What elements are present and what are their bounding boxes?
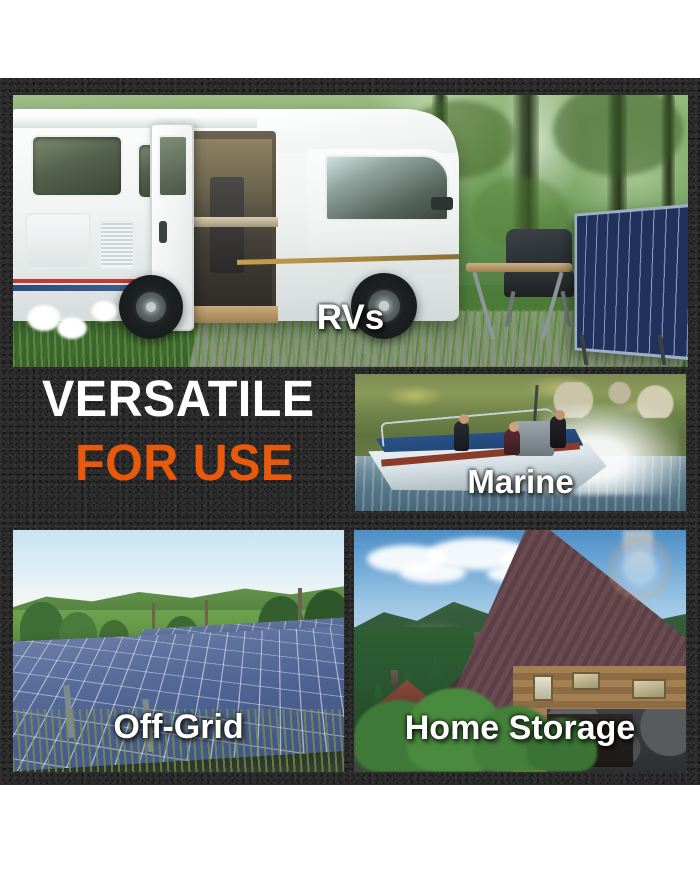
headline-block: VERSATILE FOR USE — [13, 374, 345, 508]
person-head — [509, 422, 519, 432]
window — [632, 679, 666, 699]
open-doorway — [182, 131, 276, 323]
headline-line-1: VERSATILE — [42, 374, 330, 424]
interior — [186, 139, 272, 307]
panel-home-storage[interactable]: Home Storage — [354, 530, 686, 772]
lens-flare-icon — [607, 535, 673, 601]
storage-hatch — [25, 213, 91, 269]
door-handle-icon — [159, 221, 167, 243]
window — [533, 675, 553, 701]
panel-rvs[interactable]: RVs — [13, 95, 688, 367]
person-standing — [454, 421, 469, 451]
motorhome-body — [13, 109, 459, 321]
dark-textured-background: RVs VERSATILE FOR USE Marine — [0, 78, 700, 785]
solar-panel-stand — [580, 335, 667, 365]
person-seated — [504, 429, 520, 455]
interior-counter — [190, 217, 278, 227]
panel-caption-rvs: RVs — [13, 298, 688, 338]
panel-marine[interactable]: Marine — [355, 374, 686, 511]
headline-line-2: FOR USE — [75, 438, 332, 488]
table-top — [466, 263, 572, 272]
cloud — [400, 563, 466, 583]
vent-grille — [99, 221, 135, 269]
side-mirror — [431, 197, 453, 210]
panel-caption-off-grid: Off-Grid — [13, 708, 344, 747]
poster-canvas: RVs VERSATILE FOR USE Marine — [0, 0, 700, 869]
panel-off-grid[interactable]: Off-Grid — [13, 530, 344, 772]
person-head — [459, 414, 469, 424]
side-window — [31, 135, 123, 197]
person-driver — [550, 416, 566, 448]
door-window — [158, 135, 188, 197]
person-head — [555, 410, 565, 420]
over-cab-pod — [257, 111, 457, 153]
panel-caption-marine: Marine — [355, 463, 686, 501]
chimney — [391, 670, 398, 686]
window — [572, 672, 600, 690]
windshield — [325, 155, 449, 221]
panel-caption-home-storage: Home Storage — [354, 709, 686, 748]
